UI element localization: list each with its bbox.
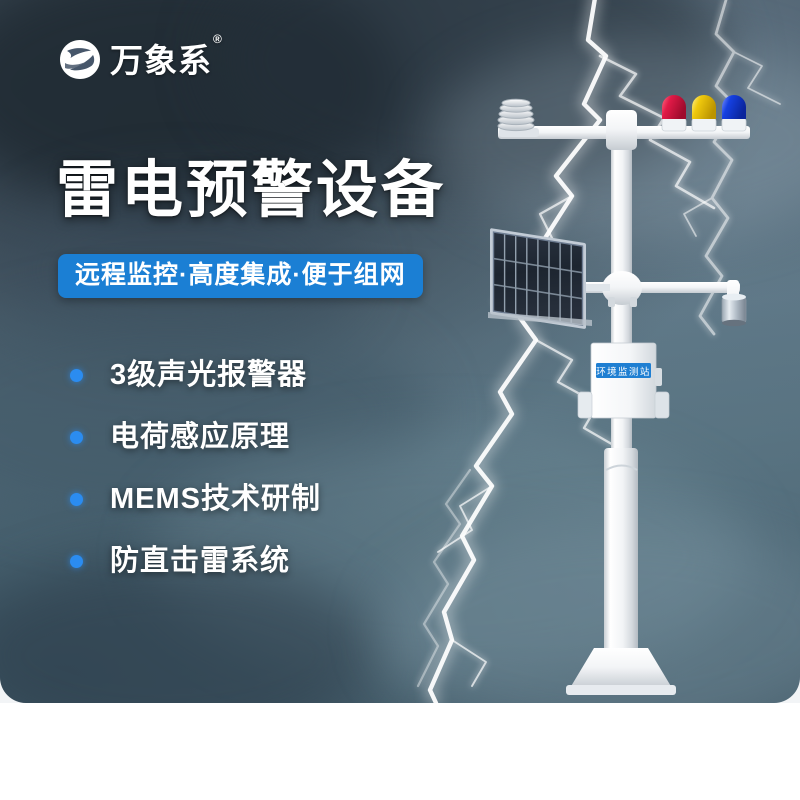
list-item: 3级声光报警器 — [70, 344, 321, 406]
blue-dot-icon — [70, 369, 83, 382]
blue-dot-icon — [70, 431, 83, 444]
feature-label: 电荷感应原理 — [110, 423, 290, 452]
alarm-beacon-red — [662, 95, 686, 131]
product-promo-poster: 环境监测站 万象系® 雷电预警设备 远程监控·高度集成·便于组网 3级声光报警器 — [0, 0, 800, 800]
alarm-beacon-yellow — [692, 95, 716, 131]
solar-panel-bracket — [586, 284, 610, 291]
enclosure-label: 环境监测站 — [596, 366, 651, 378]
feature-label: MEMS技术研制 — [110, 485, 321, 514]
brand-name: 万象系® — [110, 44, 222, 77]
subtitle-bar: 远程监控·高度集成·便于组网 — [58, 254, 423, 298]
control-enclosure: 环境监测站 — [578, 343, 669, 418]
trust-bar: 极速发货 售后无忧 品质保障 — [0, 703, 800, 800]
cylindrical-sensor — [722, 294, 746, 327]
arm-clamp — [606, 110, 637, 150]
list-item: MEMS技术研制 — [70, 468, 321, 530]
radiation-shield-sensor — [498, 99, 539, 137]
wanxiangxi-swirl-logo-icon — [58, 38, 102, 82]
blue-dot-icon — [70, 555, 83, 568]
registered-mark: ® — [213, 32, 223, 46]
hero-photo-area: 环境监测站 万象系® 雷电预警设备 远程监控·高度集成·便于组网 3级声光报警器 — [0, 0, 800, 703]
list-item: 电荷感应原理 — [70, 406, 321, 468]
feature-list: 3级声光报警器 电荷感应原理 MEMS技术研制 防直击雷系统 — [70, 344, 321, 592]
blue-dot-icon — [70, 493, 83, 506]
list-item: 防直击雷系统 — [70, 530, 321, 592]
brand-name-text: 万象系 — [110, 42, 212, 79]
feature-label: 3级声光报警器 — [110, 361, 307, 390]
alarm-beacon-blue — [722, 95, 746, 131]
brand-logo[interactable]: 万象系® — [58, 38, 222, 82]
page-title: 雷电预警设备 — [56, 160, 446, 222]
base-plate — [570, 648, 672, 688]
mast-pole-lower — [604, 448, 638, 663]
feature-label: 防直击雷系统 — [110, 547, 290, 576]
base-plate-foot — [566, 685, 676, 695]
